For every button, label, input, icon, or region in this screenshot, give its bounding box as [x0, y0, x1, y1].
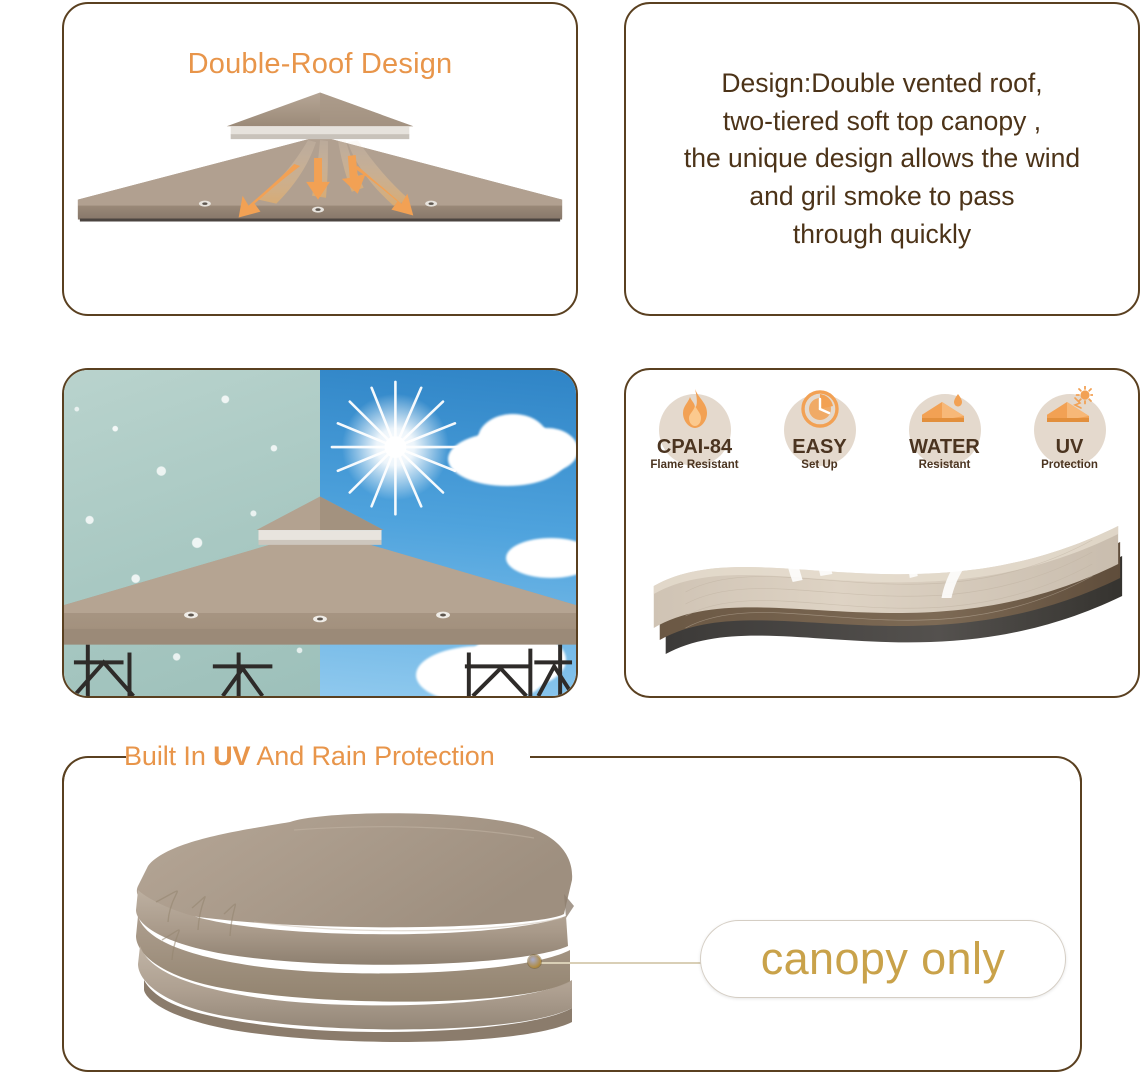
badge-water-resistant: WATER Resistant — [886, 386, 1004, 471]
infographic-canvas: Double-Roof Design — [0, 0, 1142, 1080]
badge-subtitle: Flame Resistant — [636, 459, 754, 471]
clock-icon — [797, 386, 843, 432]
panel-product-shot — [62, 756, 1082, 1072]
gazebo-canopy-rain-and-sun — [64, 370, 576, 696]
product-title-part-2: UV — [213, 741, 250, 771]
canopy-only-label: canopy only — [761, 933, 1006, 985]
double-roof-vent-diagram — [64, 78, 576, 238]
canopy-only-callout: canopy only — [700, 920, 1066, 998]
product-title-part-3: And Rain Protection — [256, 741, 494, 771]
folded-canopy-fabric — [104, 794, 604, 1054]
callout-leader-line — [535, 962, 713, 964]
badge-title: EASY — [761, 437, 879, 458]
badge-easy-setup: EASY Set Up — [761, 386, 879, 471]
gazebo-canopy-illustration — [64, 370, 576, 696]
panel-double-roof-design: Double-Roof Design — [62, 2, 578, 316]
product-title-part-1: Built In — [124, 741, 206, 771]
panel-fabric-features: CPAI-84 Flame Resistant EASY Set Up — [624, 368, 1140, 698]
panel-design-description: Design:Double vented roof, two-tiered so… — [624, 2, 1140, 316]
design-description-text: Design:Double vented roof, two-tiered so… — [652, 65, 1112, 253]
feature-badge-row: CPAI-84 Flame Resistant EASY Set Up — [632, 386, 1132, 471]
panel-weather-protection — [62, 368, 578, 698]
badge-title: UV — [1011, 437, 1129, 458]
badge-uv-protection: UV Protection — [1011, 386, 1129, 471]
badge-title: CPAI-84 — [636, 437, 754, 458]
badge-subtitle: Protection — [1011, 459, 1129, 471]
badge-title: WATER — [886, 437, 1004, 458]
double-roof-title: Double-Roof Design — [64, 48, 576, 81]
badge-cpai-84: CPAI-84 Flame Resistant — [636, 386, 754, 471]
product-panel-title: Built In UV And Rain Protection — [124, 741, 495, 772]
sun-canopy-icon — [1047, 386, 1093, 432]
water-drop-canopy-icon — [922, 386, 968, 432]
badge-subtitle: Set Up — [761, 459, 879, 471]
layered-fabric-airflow — [626, 464, 1138, 696]
badge-subtitle: Resistant — [886, 459, 1004, 471]
flame-icon — [672, 386, 718, 432]
grommet-dot-icon — [528, 955, 541, 968]
